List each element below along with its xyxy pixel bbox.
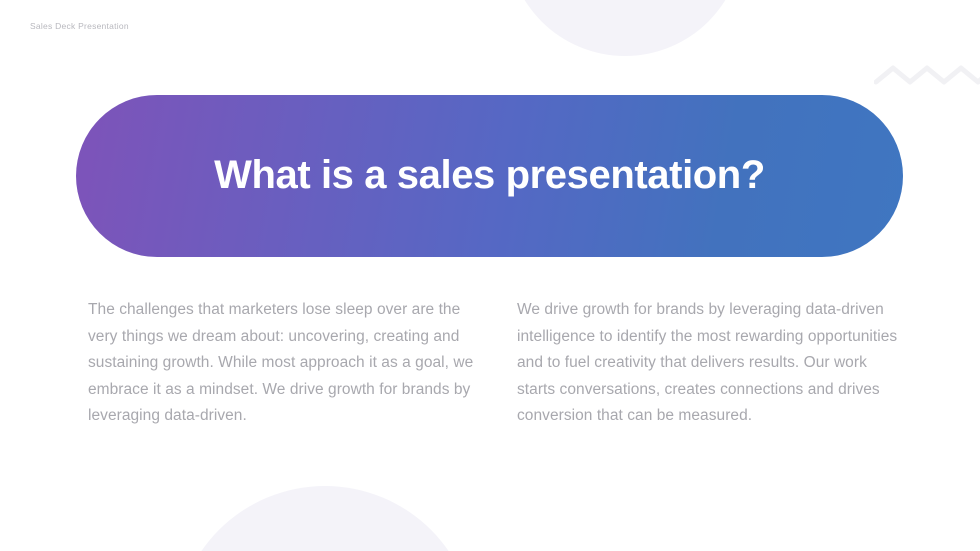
title-banner: What is a sales presentation?: [76, 95, 903, 257]
body-paragraph-left: The challenges that marketers lose sleep…: [88, 297, 477, 430]
page-title: What is a sales presentation?: [214, 153, 765, 200]
slide-header-label: Sales Deck Presentation: [30, 21, 129, 31]
body-paragraph-right: We drive growth for brands by leveraging…: [517, 297, 906, 430]
lavender-circle-top-icon: [507, 0, 743, 56]
zigzag-line-icon: [874, 62, 980, 90]
lavender-circle-bottom-icon: [175, 486, 475, 551]
body-columns: The challenges that marketers lose sleep…: [88, 297, 906, 430]
slide-canvas: Sales Deck Presentation What is a sales …: [0, 0, 980, 551]
